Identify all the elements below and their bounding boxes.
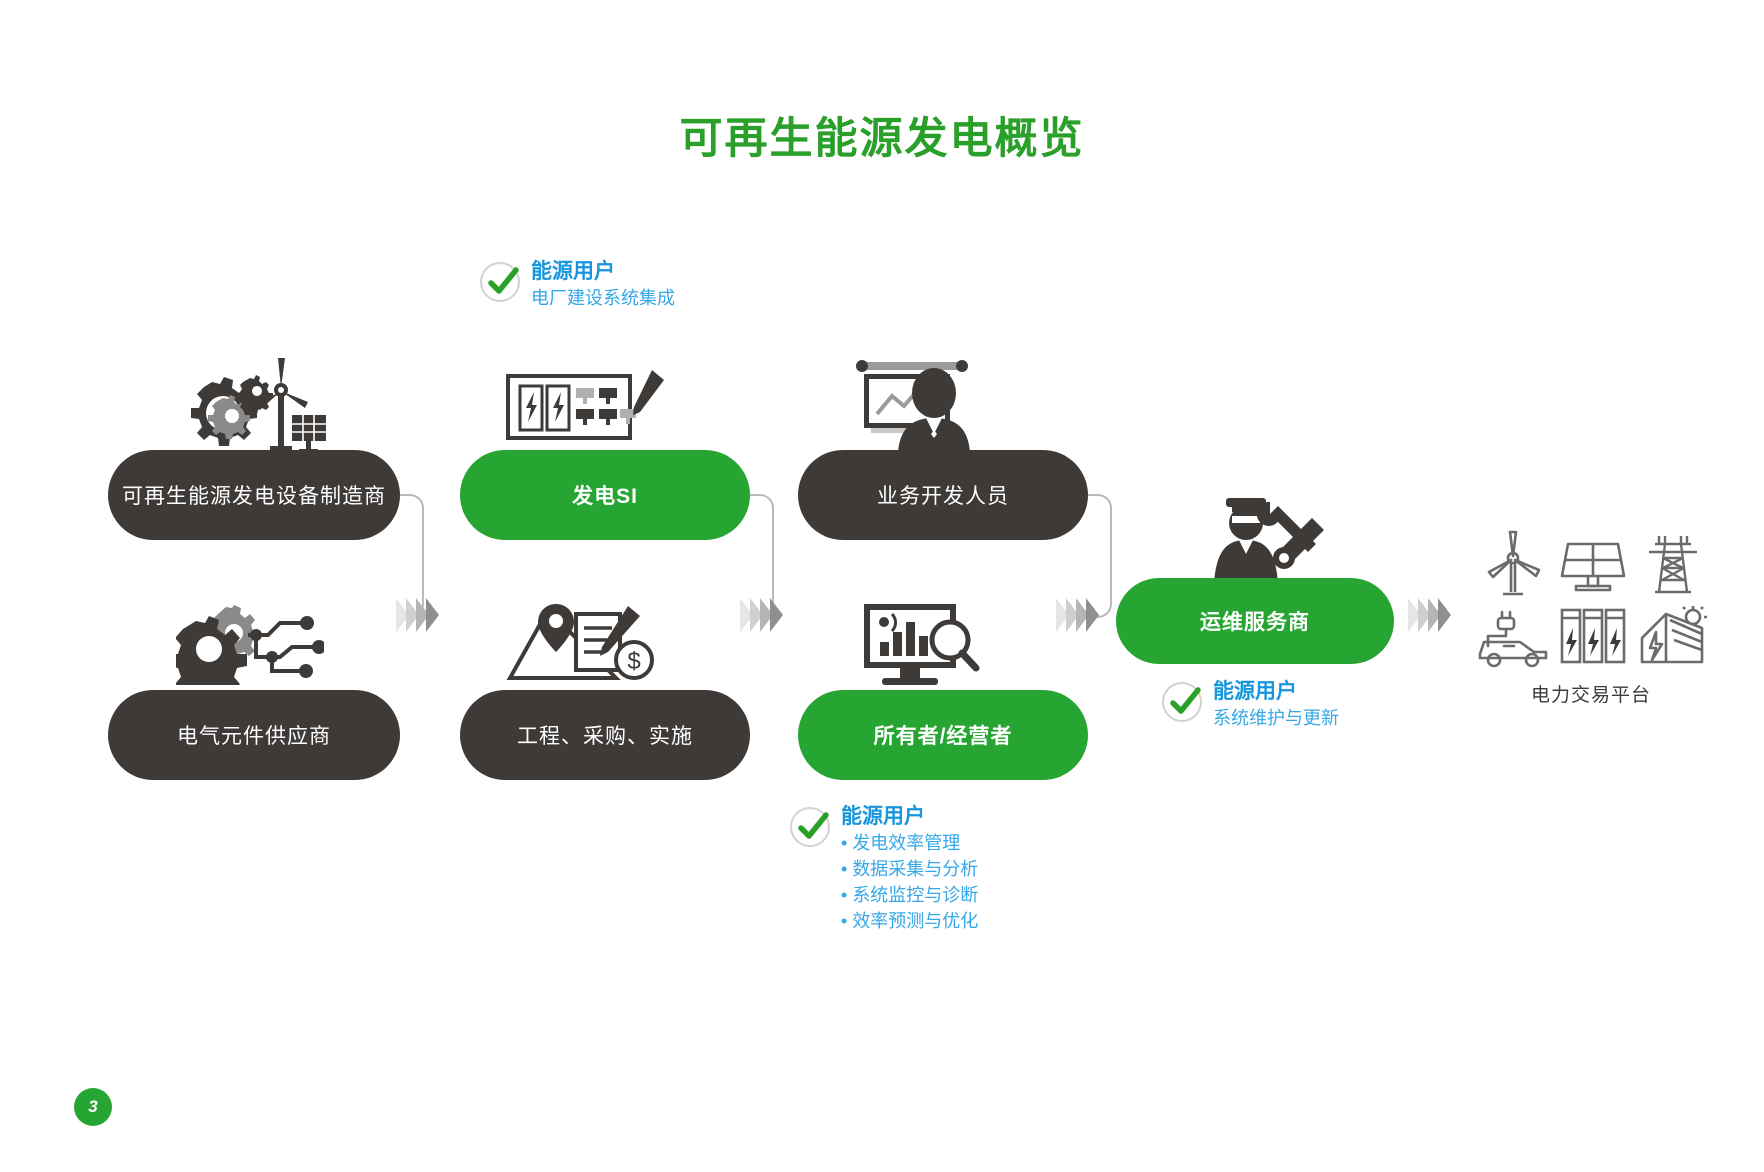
- check-circle-icon: [790, 807, 830, 847]
- pill-business-developer[interactable]: 业务开发人员: [798, 450, 1088, 540]
- solar-array-icon: [576, 388, 636, 425]
- gear-small-icon: [236, 375, 273, 414]
- solar-roof-house-icon: [1636, 606, 1710, 668]
- pill-om-service-provider[interactable]: 运维服务商: [1116, 578, 1394, 664]
- flow-arrow-4: [1408, 598, 1448, 632]
- pill-epc[interactable]: 工程、采购、实施: [460, 690, 750, 780]
- callout-subtitle: 系统维护与更新: [1213, 705, 1339, 731]
- page-title: 可再生能源发电概览: [0, 104, 1764, 166]
- battery-cabinet-icon: [520, 386, 569, 430]
- callout-energy-user-owner: 能源用户 发电效率管理 数据采集与分析 系统监控与诊断 效率预测与优化: [790, 805, 978, 934]
- callout-heading: 能源用户: [531, 260, 675, 285]
- callout-bullet-2: 数据采集与分析: [841, 856, 978, 882]
- icon-group-owner-operator: [862, 600, 980, 697]
- callout-bullet-3: 系统监控与诊断: [841, 882, 978, 908]
- wind-turbine-icon: [1481, 530, 1545, 600]
- icon-group-epc: $: [504, 600, 664, 691]
- flow-arrow-2: [740, 598, 780, 632]
- callout-energy-user-si: 能源用户 电厂建设系统集成: [480, 260, 675, 311]
- svg-text:$: $: [627, 648, 640, 675]
- flow-arrow-3: [1056, 598, 1096, 632]
- platform-group: 电力交易平台: [1476, 530, 1706, 707]
- check-circle-icon: [1162, 682, 1202, 722]
- platform-label: 电力交易平台: [1476, 680, 1706, 707]
- icon-group-system-integration: [506, 368, 666, 451]
- callout-heading: 能源用户: [1213, 680, 1339, 705]
- pencil-icon: [633, 370, 664, 415]
- callout-heading: 能源用户: [841, 805, 978, 830]
- platform-icon-grid: [1476, 530, 1706, 668]
- pill-component-supplier[interactable]: 电气元件供应商: [108, 690, 400, 780]
- battery-bank-icon: [1558, 606, 1628, 668]
- transmission-tower-icon: [1641, 530, 1705, 600]
- pill-owner-operator[interactable]: 所有者/经营者: [798, 690, 1088, 780]
- icon-group-business-development: [838, 360, 988, 457]
- pill-equipment-manufacturer[interactable]: 可再生能源发电设备制造商: [108, 450, 400, 540]
- callout-energy-user-om: 能源用户 系统维护与更新: [1162, 680, 1339, 731]
- location-pin-icon: [538, 604, 574, 652]
- dollar-coin-icon: $: [616, 642, 652, 678]
- check-circle-icon: [480, 262, 520, 302]
- slide-canvas: 可再生能源发电概览 能源用户 电厂建设系统集成: [0, 0, 1764, 1172]
- solar-panel-icon: [1558, 530, 1628, 600]
- icon-group-electrical-components: [176, 605, 324, 690]
- callout-bullet-1: 发电效率管理: [841, 830, 978, 856]
- callout-bullet-4: 效率预测与优化: [841, 908, 978, 934]
- page-number-badge: 3: [74, 1088, 112, 1126]
- ev-charging-car-icon: [1476, 606, 1550, 668]
- icon-group-manufacturing: [166, 358, 326, 458]
- circuit-dots-icon: [250, 616, 324, 678]
- callout-subtitle: 电厂建设系统集成: [531, 285, 675, 311]
- flow-arrow-1: [396, 598, 436, 632]
- pill-generation-si[interactable]: 发电SI: [460, 450, 750, 540]
- solar-panel-icon: [292, 415, 326, 452]
